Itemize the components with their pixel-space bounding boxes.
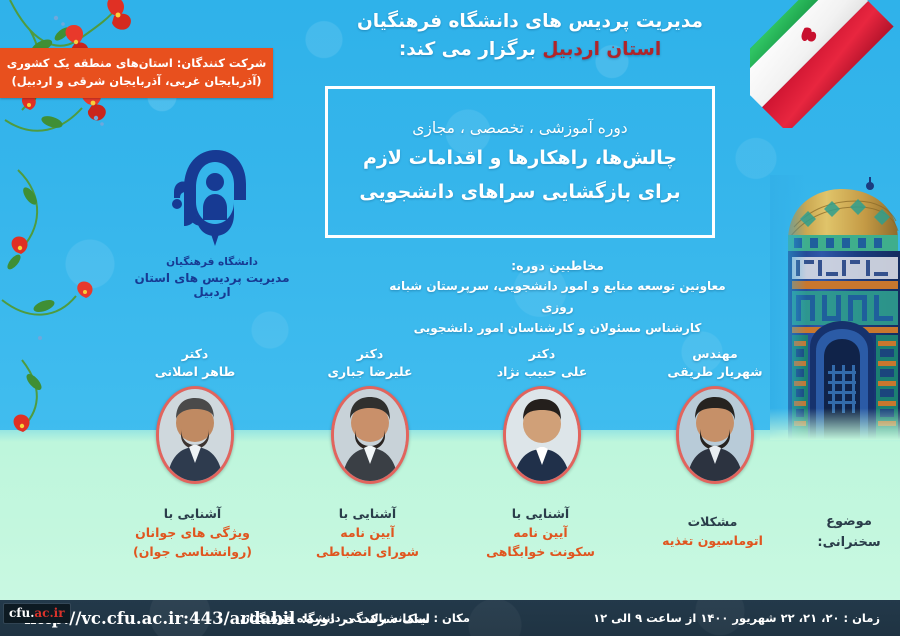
header-line-2: استان اردبیل برگزار می کند: (320, 36, 740, 64)
topic-4-line-2: اتوماسیون تغذیه (625, 532, 800, 551)
iran-flag-ribbon (750, 0, 900, 128)
speaker-card-2: دکتر علیرضا جباری (280, 345, 460, 484)
speaker-2-portrait (331, 386, 409, 484)
topic-3-line-2: آیین نامه (453, 524, 628, 543)
participants-line-1: شرکت کنندگان: استان‌های منطقه یک کشوری (6, 55, 267, 73)
course-title-line-1: چالش‌ها، راهکارها و اقدامات لازم (363, 143, 677, 173)
speaker-3-portrait (503, 386, 581, 484)
audience-line-2: کارشناس مسئولان و کارشناسان امور دانشجوی… (380, 318, 735, 339)
farhangian-university-emblem-icon (122, 142, 302, 254)
topic-4: مشکلات اتوماسیون تغذیه (625, 513, 800, 551)
speaker-card-1: دکتر طاهر اصلانی (105, 345, 285, 484)
speaker-3-name: علی حبیب نژاد (452, 363, 632, 381)
cfu-domain-badge[interactable]: cfu.ac.ir (4, 604, 70, 623)
subject-label-line-2: سخنرانی: (806, 533, 892, 554)
course-title-box: دوره آموزشی ، تخصصی ، مجازی چالش‌ها، راه… (325, 86, 715, 238)
topic-2: آشنایی با آیین نامه شورای انضباطی (280, 505, 455, 561)
poster-canvas: شرکت کنندگان: استان‌های منطقه یک کشوری (… (0, 0, 900, 636)
topic-1: آشنایی با ویژگی های جوانان (روانشناسی جو… (105, 505, 280, 561)
participants-banner: شرکت کنندگان: استان‌های منطقه یک کشوری (… (0, 48, 273, 98)
audience-heading: مخاطبین دوره: (380, 255, 735, 276)
topic-1-line-2: ویژگی های جوانان (105, 524, 280, 543)
course-kicker: دوره آموزشی ، تخصصی ، مجازی (412, 117, 627, 140)
subject-label: موضوع سخنرانی: (806, 512, 892, 554)
university-logo-block: دانشگاه فرهنگیان مدیریت پردیس های استان … (122, 142, 302, 299)
speaker-card-4: مهندس شهریار طریقی (625, 345, 805, 484)
topic-4-line-1: مشکلات (625, 513, 800, 532)
speaker-1-title: دکتر (105, 345, 285, 363)
topic-2-line-2: آیین نامه (280, 524, 455, 543)
subject-label-line-1: موضوع (806, 512, 892, 533)
speaker-4-portrait (676, 386, 754, 484)
speaker-1-name: طاهر اصلانی (105, 363, 285, 381)
participants-line-2: (آذربایجان غربی، آذربایجان شرقی و اردبیل… (6, 73, 267, 91)
footer-time: زمان : ۲۰، ۲۱، ۲۲ شهریور ۱۴۰۰ از ساعت ۹ … (593, 600, 880, 636)
footer-link-label: لینک شرکت در دوره: (301, 611, 430, 626)
course-title-line-2: برای بازگشایی سراهای دانشجویی (359, 177, 680, 207)
footer-bar: زمان : ۲۰، ۲۱، ۲۲ شهریور ۱۴۰۰ از ساعت ۹ … (0, 600, 900, 636)
cfu-badge-white: cfu. (9, 606, 34, 620)
header-line-1: مدیریت پردیس های دانشگاه فرهنگیان (320, 8, 740, 36)
cfu-badge-red: ac.ir (34, 606, 64, 620)
speaker-4-name: شهریار طریقی (625, 363, 805, 381)
speaker-1-portrait (156, 386, 234, 484)
topic-2-line-3: شورای انضباطی (280, 543, 455, 562)
logo-caption-campus: مدیریت پردیس های استان اردبیل (122, 271, 302, 299)
topic-2-line-1: آشنایی با (280, 505, 455, 524)
topic-3-line-1: آشنایی با (453, 505, 628, 524)
speaker-2-name: علیرضا جباری (280, 363, 460, 381)
speaker-card-3: دکتر علی حبیب نژاد (452, 345, 632, 484)
topic-1-line-1: آشنایی با (105, 505, 280, 524)
topic-3-line-3: سکونت خوابگاهی (453, 543, 628, 562)
header-line-2-rest: برگزار می کند: (399, 39, 543, 60)
audience-line-1: معاونین توسعه منابع و امور دانشجویی، سرپ… (380, 276, 735, 318)
speaker-4-title: مهندس (625, 345, 805, 363)
speaker-2-title: دکتر (280, 345, 460, 363)
logo-caption-university: دانشگاه فرهنگیان (122, 256, 302, 268)
topic-1-line-3: (روانشناسی جوان) (105, 543, 280, 562)
topic-3: آشنایی با آیین نامه سکونت خوابگاهی (453, 505, 628, 561)
speaker-3-title: دکتر (452, 345, 632, 363)
poster-header: مدیریت پردیس های دانشگاه فرهنگیان استان … (320, 8, 740, 64)
header-province-highlight: استان اردبیل (542, 39, 661, 60)
audience-section: مخاطبین دوره: معاونین توسعه منابع و امور… (380, 255, 735, 339)
